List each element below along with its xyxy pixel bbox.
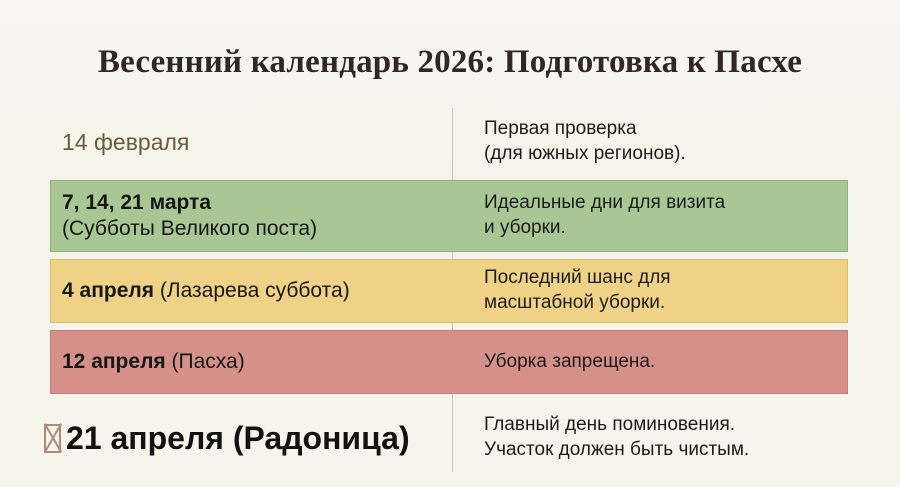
- row-3-date: 4 апреля (Лазарева суббота): [62, 278, 438, 304]
- row-3-desc-line-2: масштабной уборки.: [484, 291, 884, 316]
- row-3-description: Последний шанс для масштабной уборки.: [484, 266, 884, 315]
- calendar-row-5: 21 апреля (Радоница) Главный день помино…: [0, 400, 900, 476]
- calendar-row-3: 4 апреля (Лазарева суббота) Последний ша…: [0, 259, 900, 323]
- row-1-date-main: 14 февраля: [62, 129, 189, 155]
- row-5-date-cell: 21 апреля (Радоница): [0, 418, 452, 458]
- infographic-page: Весенний календарь 2026: Подготовка к Па…: [0, 0, 900, 487]
- row-5-desc-line-2: Участок должен быть чистым.: [484, 438, 884, 463]
- row-5-desc-cell: Главный день поминовения. Участок должен…: [452, 413, 900, 462]
- calendar-row-2: 7, 14, 21 марта (Субботы Великого поста)…: [0, 180, 900, 252]
- row-2-desc-cell: Идеальные дни для визита и уборки.: [452, 191, 900, 240]
- row-2-desc-line-1: Идеальные дни для визита: [484, 191, 884, 216]
- row-3-desc-cell: Последний шанс для масштабной уборки.: [452, 266, 900, 315]
- row-2-desc-line-2: и уборки.: [484, 216, 884, 241]
- row-1-date-cell: 14 февраля: [0, 128, 452, 157]
- row-3-date-cell: 4 апреля (Лазарева суббота): [0, 278, 452, 304]
- row-5-date: 21 апреля (Радоница): [44, 418, 438, 458]
- row-5-description: Главный день поминовения. Участок должен…: [484, 413, 884, 462]
- missing-glyph-box-icon: [44, 424, 61, 453]
- row-2-date: 7, 14, 21 марта (Субботы Великого поста): [62, 190, 438, 243]
- row-4-description: Уборка запрещена.: [484, 350, 884, 375]
- row-4-date-main: 12 апреля: [62, 350, 166, 373]
- row-4-desc-cell: Уборка запрещена.: [452, 350, 900, 375]
- calendar-row-4: 12 апреля (Пасха) Уборка запрещена.: [0, 330, 900, 394]
- row-3-date-main: 4 апреля: [62, 279, 154, 302]
- row-3-date-note: (Лазарева суббота): [154, 279, 350, 302]
- row-1-desc-cell: Первая проверка (для южных регионов).: [452, 117, 900, 166]
- row-1-desc-line-2: (для южных регионов).: [484, 142, 884, 167]
- row-2-date-note: (Субботы Великого поста): [62, 217, 317, 240]
- calendar-rows: 14 февраля Первая проверка (для южных ре…: [0, 106, 900, 476]
- row-3-desc-line-1: Последний шанс для: [484, 266, 884, 291]
- page-title: Весенний календарь 2026: Подготовка к Па…: [0, 44, 900, 81]
- row-1-date: 14 февраля: [62, 128, 438, 157]
- row-1-description: Первая проверка (для южных регионов).: [484, 117, 884, 166]
- row-1-desc-line-1: Первая проверка: [484, 117, 884, 142]
- row-5-date-main: 21 апреля (Радоница): [66, 418, 410, 458]
- row-4-date-cell: 12 апреля (Пасха): [0, 349, 452, 375]
- row-5-desc-line-1: Главный день поминовения.: [484, 413, 884, 438]
- calendar-row-1: 14 февраля Первая проверка (для южных ре…: [0, 106, 900, 178]
- row-4-desc-line-1: Уборка запрещена.: [484, 350, 884, 375]
- row-2-date-main: 7, 14, 21 марта: [62, 191, 211, 214]
- row-2-date-cell: 7, 14, 21 марта (Субботы Великого поста): [0, 190, 452, 243]
- row-4-date-note: (Пасха): [166, 350, 245, 373]
- row-2-description: Идеальные дни для визита и уборки.: [484, 191, 884, 240]
- row-4-date: 12 апреля (Пасха): [62, 349, 438, 375]
